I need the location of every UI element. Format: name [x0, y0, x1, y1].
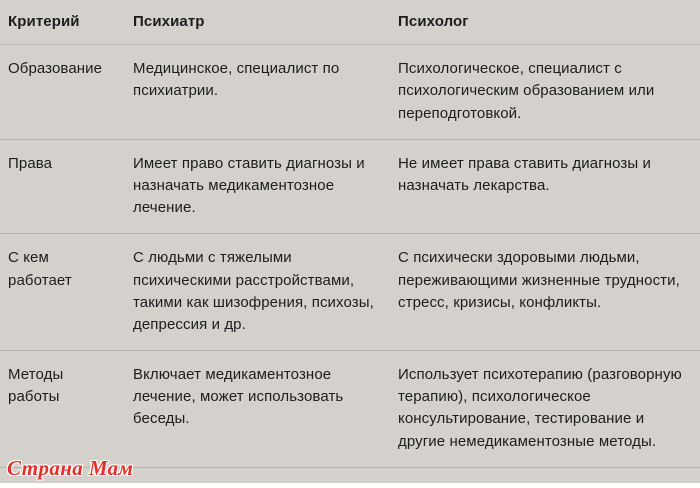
cell-criterion: С кем работает — [0, 234, 125, 351]
cell-psychologist: Не имеет права ставить диагнозы и назнач… — [390, 139, 700, 234]
cell-psychologist: С психически здоровыми людьми, переживаю… — [390, 234, 700, 351]
site-watermark: Страна Мам — [7, 458, 133, 479]
column-header-criterion: Критерий — [0, 0, 125, 45]
page-canvas: Критерий Психиатр Психолог Образование М… — [0, 0, 700, 488]
cell-criterion: Права — [0, 139, 125, 234]
cell-psychiatrist: Имеет право ставить диагнозы и назначать… — [125, 139, 390, 234]
table-header: Критерий Психиатр Психолог — [0, 0, 700, 45]
column-header-psychologist: Психолог — [390, 0, 700, 45]
cell-psychiatrist: Включает медикаментозное лечение, может … — [125, 351, 390, 468]
cell-psychiatrist: Медицинское, специалист по психиатрии. — [125, 45, 390, 140]
cell-psychiatrist: С людьми с тяжелыми психическими расстро… — [125, 234, 390, 351]
table-row: Права Имеет право ставить диагнозы и наз… — [0, 139, 700, 234]
table-header-row: Критерий Психиатр Психолог — [0, 0, 700, 45]
bottom-strip — [0, 483, 700, 488]
column-header-psychiatrist: Психиатр — [125, 0, 390, 45]
cell-psychologist: Использует психотерапию (разговорную тер… — [390, 351, 700, 468]
cell-criterion: Методы работы — [0, 351, 125, 468]
cell-psychologist: Психологическое, специалист с психологич… — [390, 45, 700, 140]
table-body: Образование Медицинское, специалист по п… — [0, 45, 700, 468]
cell-criterion: Образование — [0, 45, 125, 140]
table-row: Образование Медицинское, специалист по п… — [0, 45, 700, 140]
comparison-table: Критерий Психиатр Психолог Образование М… — [0, 0, 700, 468]
table-row: С кем работает С людьми с тяжелыми психи… — [0, 234, 700, 351]
table-row: Методы работы Включает медикаментозное л… — [0, 351, 700, 468]
